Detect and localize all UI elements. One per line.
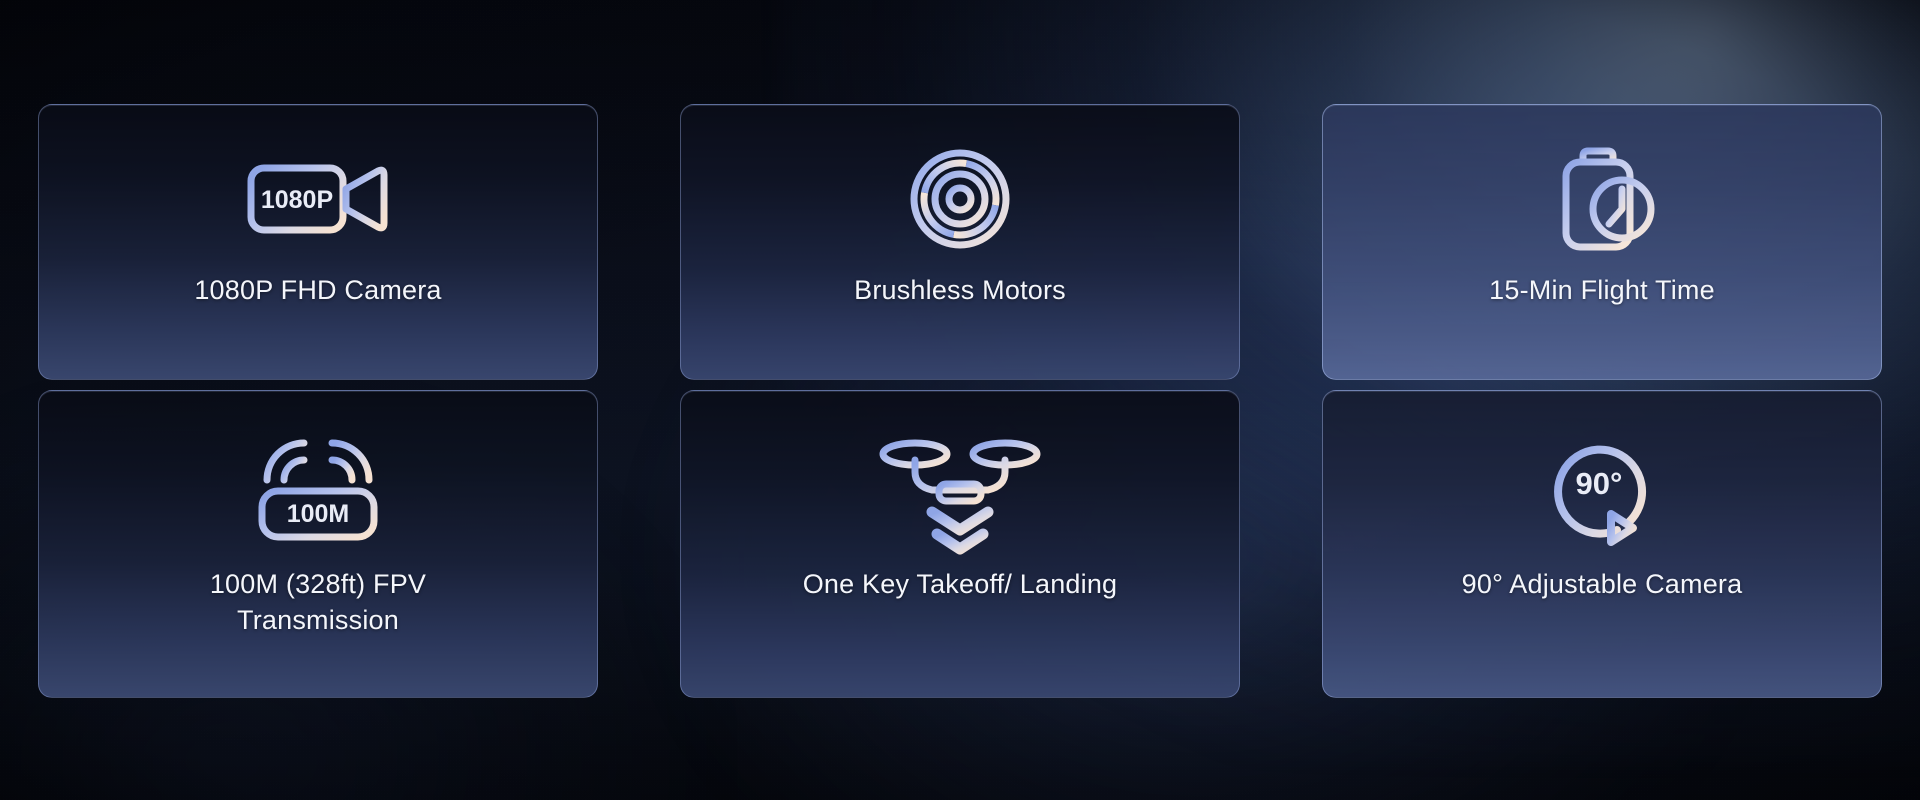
feature-card-fhd-camera[interactable]: 1080P 1080P FHD Camera <box>38 104 598 380</box>
feature-label-line2: Transmission <box>237 605 399 635</box>
router-signal-icon: 100M <box>254 437 382 541</box>
rotate-90-degree-icon: 90° <box>1547 437 1657 541</box>
feature-label-adjustable-camera: 90° Adjustable Camera <box>1436 567 1769 603</box>
rotate-badge-text: 90° <box>1576 466 1623 501</box>
feature-label-fhd-camera: 1080P FHD Camera <box>168 273 467 309</box>
feature-card-grid: 1080P 1080P FHD Camera <box>40 104 1880 698</box>
drone-descend-icon <box>877 437 1043 541</box>
feature-label-brushless-motors: Brushless Motors <box>828 273 1092 309</box>
feature-card-fpv-transmission[interactable]: 100M 100M (328ft) FPV Transmission <box>38 390 598 698</box>
video-camera-icon: 1080P <box>245 147 391 251</box>
feature-card-brushless-motors[interactable]: Brushless Motors <box>680 104 1240 380</box>
feature-label-line1: 100M (328ft) FPV <box>210 569 426 599</box>
battery-clock-icon <box>1549 147 1655 251</box>
feature-label-fpv-transmission: 100M (328ft) FPV Transmission <box>184 567 452 639</box>
feature-label-one-key-takeoff: One Key Takeoff/ Landing <box>777 567 1144 603</box>
feature-card-one-key-takeoff[interactable]: One Key Takeoff/ Landing <box>680 390 1240 698</box>
feature-card-adjustable-camera[interactable]: 90° 90° Adjustable Camera <box>1322 390 1882 698</box>
video-camera-badge-text: 1080P <box>261 186 333 214</box>
feature-highlight-banner: 1080P 1080P FHD Camera <box>0 0 1920 800</box>
brushless-motor-icon <box>908 147 1012 251</box>
router-badge-text: 100M <box>287 500 350 528</box>
feature-card-flight-time[interactable]: 15-Min Flight Time <box>1322 104 1882 380</box>
feature-label-flight-time: 15-Min Flight Time <box>1463 273 1741 309</box>
